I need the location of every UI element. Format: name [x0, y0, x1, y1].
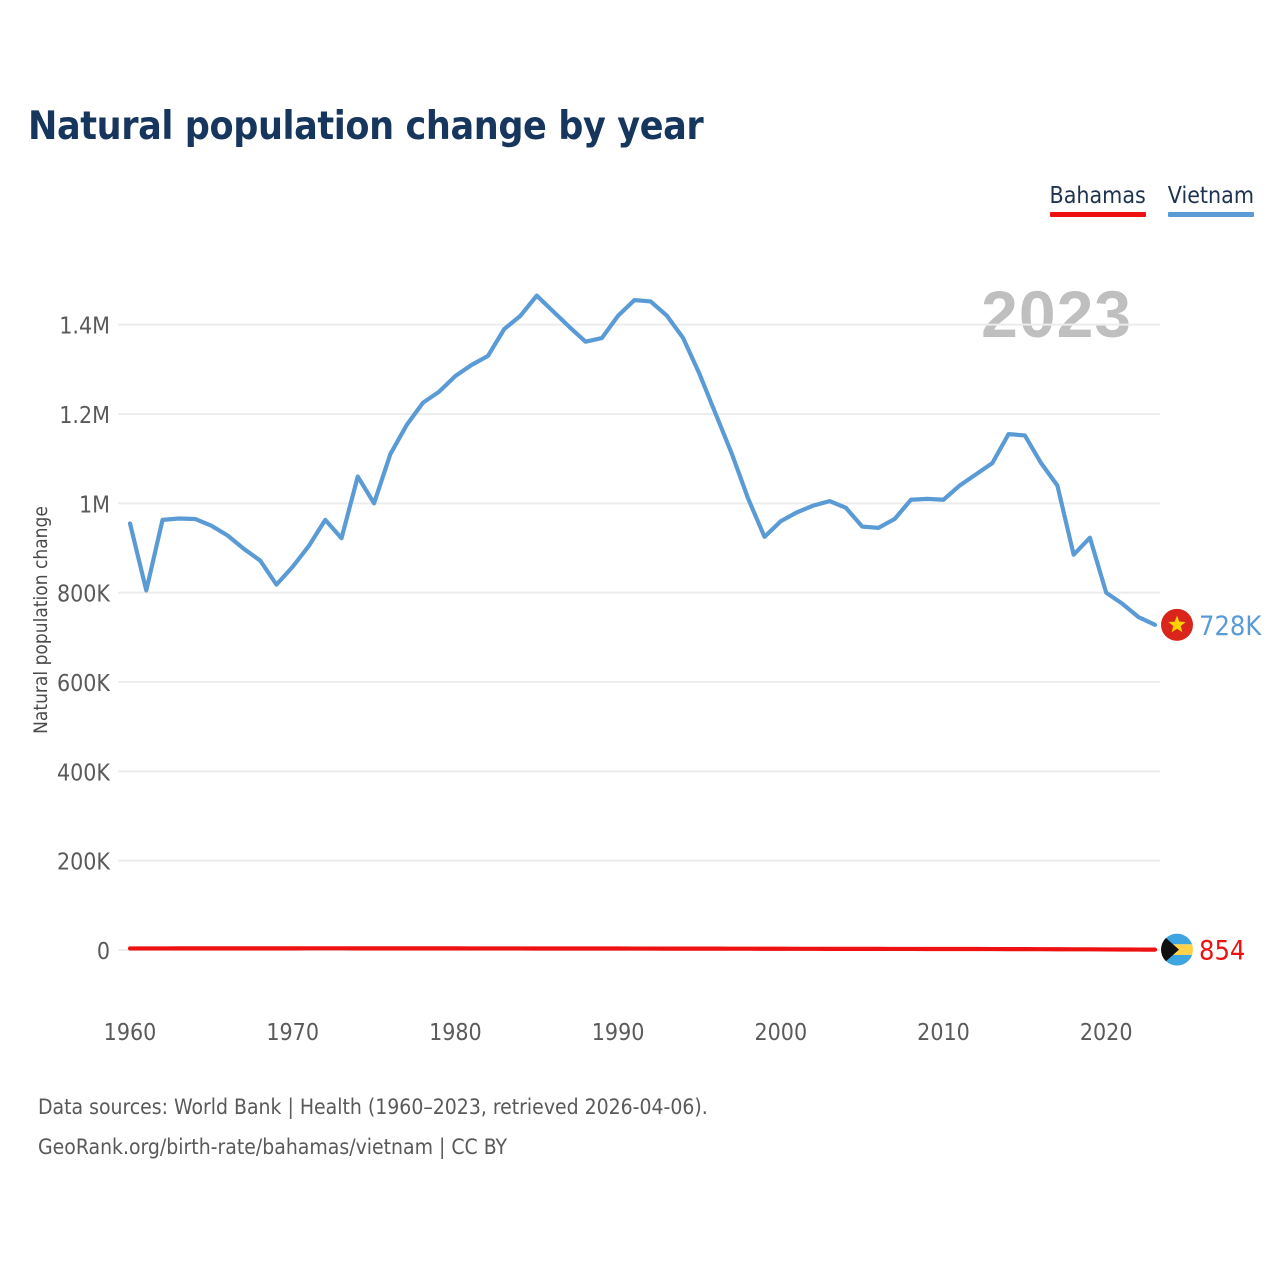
x-axis-tick-labels: 1960197019801990200020102020	[104, 1020, 1133, 1046]
svg-text:2020: 2020	[1080, 1020, 1133, 1046]
y-axis-title: Natural population change	[30, 506, 52, 734]
svg-text:1960: 1960	[104, 1020, 157, 1046]
footer: Data sources: World Bank | Health (1960–…	[38, 1087, 708, 1167]
svg-text:1M: 1M	[79, 492, 110, 518]
bahamas-flag-icon	[1161, 934, 1193, 966]
y-axis-tick-labels: 0200K400K600K800K1M1.2M1.4M	[57, 314, 110, 965]
gridlines	[118, 325, 1160, 950]
svg-text:1.4M: 1.4M	[59, 314, 110, 340]
svg-text:1970: 1970	[266, 1020, 319, 1046]
svg-text:2010: 2010	[917, 1020, 970, 1046]
series-line-bahamas	[130, 948, 1155, 949]
svg-text:800K: 800K	[57, 582, 110, 608]
svg-text:200K: 200K	[57, 850, 110, 876]
svg-text:1980: 1980	[429, 1020, 482, 1046]
svg-text:1.2M: 1.2M	[59, 403, 110, 429]
end-label-vietnam: 728K	[1199, 611, 1262, 642]
chart-page: Natural population change by year Bahama…	[0, 0, 1280, 1280]
svg-text:1990: 1990	[592, 1020, 645, 1046]
svg-text:0: 0	[97, 939, 110, 965]
footer-line-sources: Data sources: World Bank | Health (1960–…	[38, 1087, 708, 1127]
svg-text:600K: 600K	[57, 671, 110, 697]
end-label-bahamas: 854	[1199, 936, 1245, 967]
svg-text:400K: 400K	[57, 760, 110, 786]
vietnam-flag-icon	[1161, 609, 1193, 641]
footer-line-attribution: GeoRank.org/birth-rate/bahamas/vietnam |…	[38, 1127, 708, 1167]
svg-text:2000: 2000	[754, 1020, 807, 1046]
series-line-vietnam	[130, 296, 1155, 625]
